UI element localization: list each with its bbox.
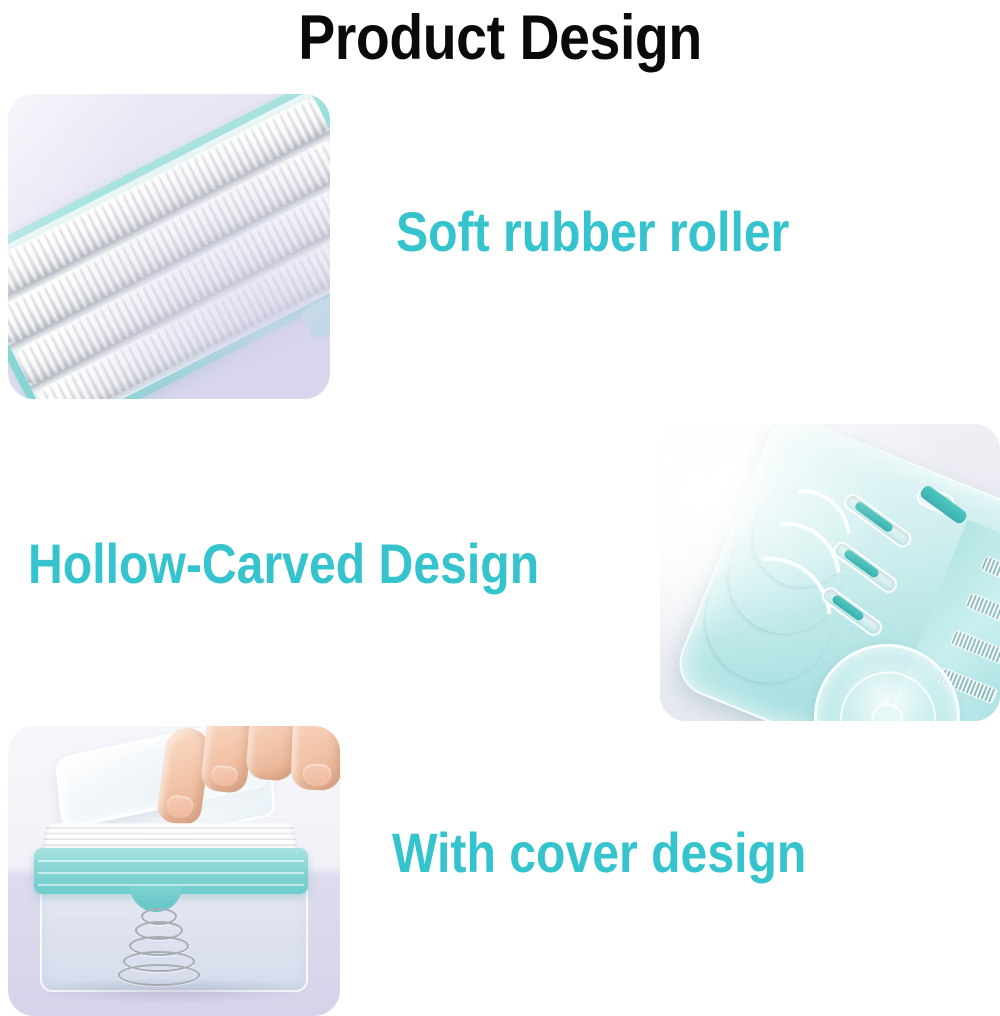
roller-bed bbox=[8, 94, 330, 399]
product-design-infographic: Product Design Soft rubber roller Hollow… bbox=[0, 0, 1000, 1016]
fingernail bbox=[303, 764, 332, 787]
feature-photo-soft-rubber-roller bbox=[8, 94, 330, 399]
hand bbox=[158, 726, 340, 834]
rib bbox=[980, 555, 1000, 593]
transparent-base bbox=[669, 424, 1000, 721]
metal-spring bbox=[120, 908, 198, 980]
tray-groove bbox=[38, 860, 304, 862]
mint-frame bbox=[8, 94, 330, 399]
feature-caption-hollow-carved-design: Hollow-Carved Design bbox=[28, 533, 539, 595]
feature-caption-with-cover-design: With cover design bbox=[392, 822, 806, 884]
tray-groove bbox=[38, 872, 304, 874]
rib bbox=[965, 592, 1000, 630]
page-title: Product Design bbox=[60, 2, 940, 74]
thumb-back bbox=[290, 726, 340, 791]
rib bbox=[950, 629, 1000, 667]
feature-caption-soft-rubber-roller: Soft rubber roller bbox=[396, 201, 789, 263]
feature-photo-hollow-carved-design bbox=[660, 424, 1000, 721]
feature-photo-with-cover-design bbox=[8, 726, 340, 1016]
fingernail bbox=[210, 765, 238, 788]
fingernail bbox=[165, 794, 194, 819]
roller-assembly-illustration bbox=[8, 94, 330, 399]
dish-ground-shadow bbox=[32, 978, 312, 1004]
hollow-base-illustration bbox=[660, 424, 1000, 721]
